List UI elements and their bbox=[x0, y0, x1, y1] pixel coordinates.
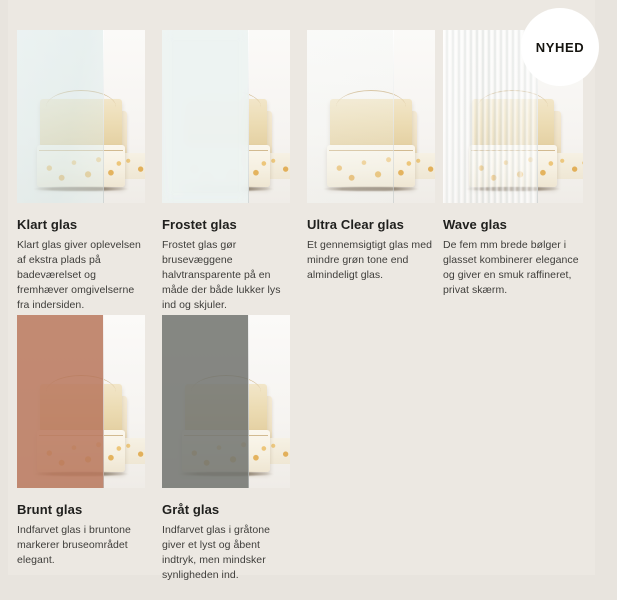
product-title: Ultra Clear glas bbox=[307, 217, 435, 233]
product-grid: Klart glas Klart glas giver oplevelsen a… bbox=[17, 30, 597, 600]
product-label: Wave glas De fem mm brede bølger i glass… bbox=[443, 217, 583, 298]
product-image-klart-glas bbox=[17, 30, 145, 203]
product-card-ultra-clear-glas[interactable]: Ultra Clear glas Et gennemsigtigt glas m… bbox=[307, 30, 435, 283]
product-card-klart-glas[interactable]: Klart glas Klart glas giver oplevelsen a… bbox=[17, 30, 145, 314]
product-description: Klart glas giver oplevelsen af ekstra pl… bbox=[17, 238, 145, 314]
product-title: Frostet glas bbox=[162, 217, 290, 233]
product-label: Brunt glas Indfarvet glas i bruntone mar… bbox=[17, 502, 145, 568]
glass-overlay-frosted bbox=[162, 30, 249, 203]
product-description: De fem mm brede bølger i glasset kombine… bbox=[443, 238, 583, 299]
glass-edge bbox=[248, 315, 250, 488]
glass-edge bbox=[103, 315, 105, 488]
product-title: Brunt glas bbox=[17, 502, 145, 518]
glass-overlay-brown bbox=[17, 315, 104, 488]
product-label: Frostet glas Frostet glas gør brusevægge… bbox=[162, 217, 290, 314]
glass-edge bbox=[103, 30, 105, 203]
product-description: Indfarvet glas i gråtone giver et lyst o… bbox=[162, 523, 290, 584]
product-image-graat-glas bbox=[162, 315, 290, 488]
product-label: Gråt glas Indfarvet glas i gråtone giver… bbox=[162, 502, 290, 583]
product-row-2: Brunt glas Indfarvet glas i bruntone mar… bbox=[17, 315, 597, 600]
glass-overlay-ultra-clear bbox=[307, 30, 394, 203]
product-card-brunt-glas[interactable]: Brunt glas Indfarvet glas i bruntone mar… bbox=[17, 315, 145, 568]
product-card-graat-glas[interactable]: Gråt glas Indfarvet glas i gråtone giver… bbox=[162, 315, 290, 583]
glass-edge bbox=[248, 30, 250, 203]
product-image-brunt-glas bbox=[17, 315, 145, 488]
product-title: Gråt glas bbox=[162, 502, 290, 518]
product-image-frostet-glas bbox=[162, 30, 290, 203]
product-card-frostet-glas[interactable]: Frostet glas Frostet glas gør brusevægge… bbox=[162, 30, 290, 314]
frost-blur-layer bbox=[162, 30, 249, 203]
product-title: Klart glas bbox=[17, 217, 145, 233]
product-description: Frostet glas gør brusevæggene halvtransp… bbox=[162, 238, 290, 314]
nyhed-badge: NYHED bbox=[521, 8, 599, 86]
product-image-ultra-clear-glas bbox=[307, 30, 435, 203]
product-title: Wave glas bbox=[443, 217, 583, 233]
glass-overlay-clear bbox=[17, 30, 104, 203]
glass-overlay-gray bbox=[162, 315, 249, 488]
product-description: Indfarvet glas i bruntone markerer bruse… bbox=[17, 523, 145, 569]
product-row-1: Klart glas Klart glas giver oplevelsen a… bbox=[17, 30, 597, 315]
product-description: Et gennemsigtigt glas med mindre grøn to… bbox=[307, 238, 435, 284]
product-label: Klart glas Klart glas giver oplevelsen a… bbox=[17, 217, 145, 314]
glass-edge bbox=[393, 30, 395, 203]
glass-options-page: NYHED bbox=[0, 0, 617, 600]
product-label: Ultra Clear glas Et gennemsigtigt glas m… bbox=[307, 217, 435, 283]
